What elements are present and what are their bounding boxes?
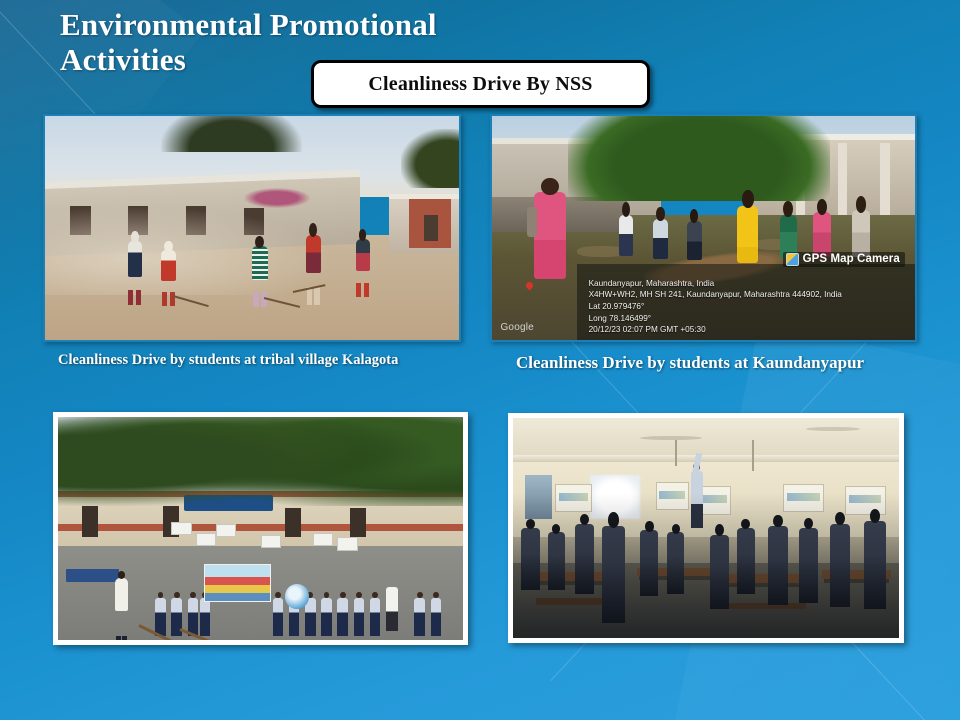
caption-kaundanyapur: Cleanliness Drive by students at Kaundan… xyxy=(516,353,864,373)
student xyxy=(200,598,211,636)
doorway xyxy=(350,508,366,537)
gps-latitude: Lat 20.979476° xyxy=(589,301,909,313)
tree-canopy xyxy=(401,129,461,187)
photo-classroom-scene xyxy=(513,418,899,638)
placard xyxy=(196,533,216,546)
gps-map-camera-badge-label: GPS Map Camera xyxy=(803,253,900,265)
student xyxy=(370,598,381,636)
building-band xyxy=(58,524,463,531)
low-light-shading xyxy=(513,418,899,638)
adult-in-white xyxy=(386,587,398,632)
student xyxy=(321,598,332,636)
adult-in-white xyxy=(115,578,129,636)
person-in-pink-saree xyxy=(534,192,566,295)
person-sweeping xyxy=(252,246,268,293)
photo-kalagota[interactable] xyxy=(43,114,461,342)
pillar xyxy=(880,143,889,215)
caption-kalagota: Cleanliness Drive by students at tribal … xyxy=(58,352,398,369)
tree-line xyxy=(58,412,463,506)
student xyxy=(155,598,166,636)
subtitle-callout-label: Cleanliness Drive By NSS xyxy=(368,73,592,96)
person-sweeping xyxy=(306,235,321,289)
gps-longitude: Long 78.146499° xyxy=(589,313,909,325)
tree-canopy xyxy=(161,114,302,152)
gps-place: Kaundanyapur, Maharashtra, India xyxy=(589,278,909,290)
doorway xyxy=(424,215,438,242)
drum xyxy=(285,584,309,609)
person-sweeping xyxy=(161,250,176,293)
placard xyxy=(313,533,333,546)
tree-canopy xyxy=(568,114,830,201)
photo-kalagota-scene xyxy=(45,116,459,340)
gps-map-camera-badge: GPS Map Camera xyxy=(783,252,905,267)
photo-classroom[interactable] xyxy=(508,413,904,643)
photo-rally-scene xyxy=(58,417,463,640)
student xyxy=(188,598,199,636)
google-watermark: Google xyxy=(500,322,533,333)
dust-cloud xyxy=(45,206,335,296)
blue-wall-board xyxy=(66,569,119,582)
doorway xyxy=(82,506,98,537)
backpack xyxy=(527,207,537,238)
placard xyxy=(216,524,236,537)
subtitle-callout-box: Cleanliness Drive By NSS xyxy=(311,60,650,108)
student xyxy=(354,598,365,636)
placard xyxy=(337,537,357,550)
gps-map-camera-overlay: GPS Map Camera Kaundanyapur, Maharashtra… xyxy=(577,264,915,340)
photo-kaundanyapur-scene: GPS Map Camera Kaundanyapur, Maharashtra… xyxy=(492,116,915,340)
gps-overlay-text: Kaundanyapur, Maharashtra, India X4HW+WH… xyxy=(589,278,909,336)
rally-banner xyxy=(204,564,271,602)
placard xyxy=(261,535,281,548)
student xyxy=(414,598,425,636)
gps-address: X4HW+WH2, MH SH 241, Kaundanyapur, Mahar… xyxy=(589,289,909,301)
photo-kaundanyapur[interactable]: GPS Map Camera Kaundanyapur, Maharashtra… xyxy=(490,114,917,342)
pillar xyxy=(838,143,847,215)
student xyxy=(337,598,348,636)
photo-rally[interactable] xyxy=(53,412,468,645)
student xyxy=(273,598,284,636)
slide-canvas: Environmental Promotional Activities Cle… xyxy=(0,0,960,720)
gps-map-camera-icon xyxy=(786,253,799,266)
person-sweeping xyxy=(128,241,142,290)
student xyxy=(431,598,442,636)
doorway xyxy=(285,508,301,537)
placard xyxy=(171,522,191,535)
gps-timestamp: 20/12/23 02:07 PM GMT +05:30 xyxy=(589,324,909,336)
person-sweeping xyxy=(356,239,370,284)
